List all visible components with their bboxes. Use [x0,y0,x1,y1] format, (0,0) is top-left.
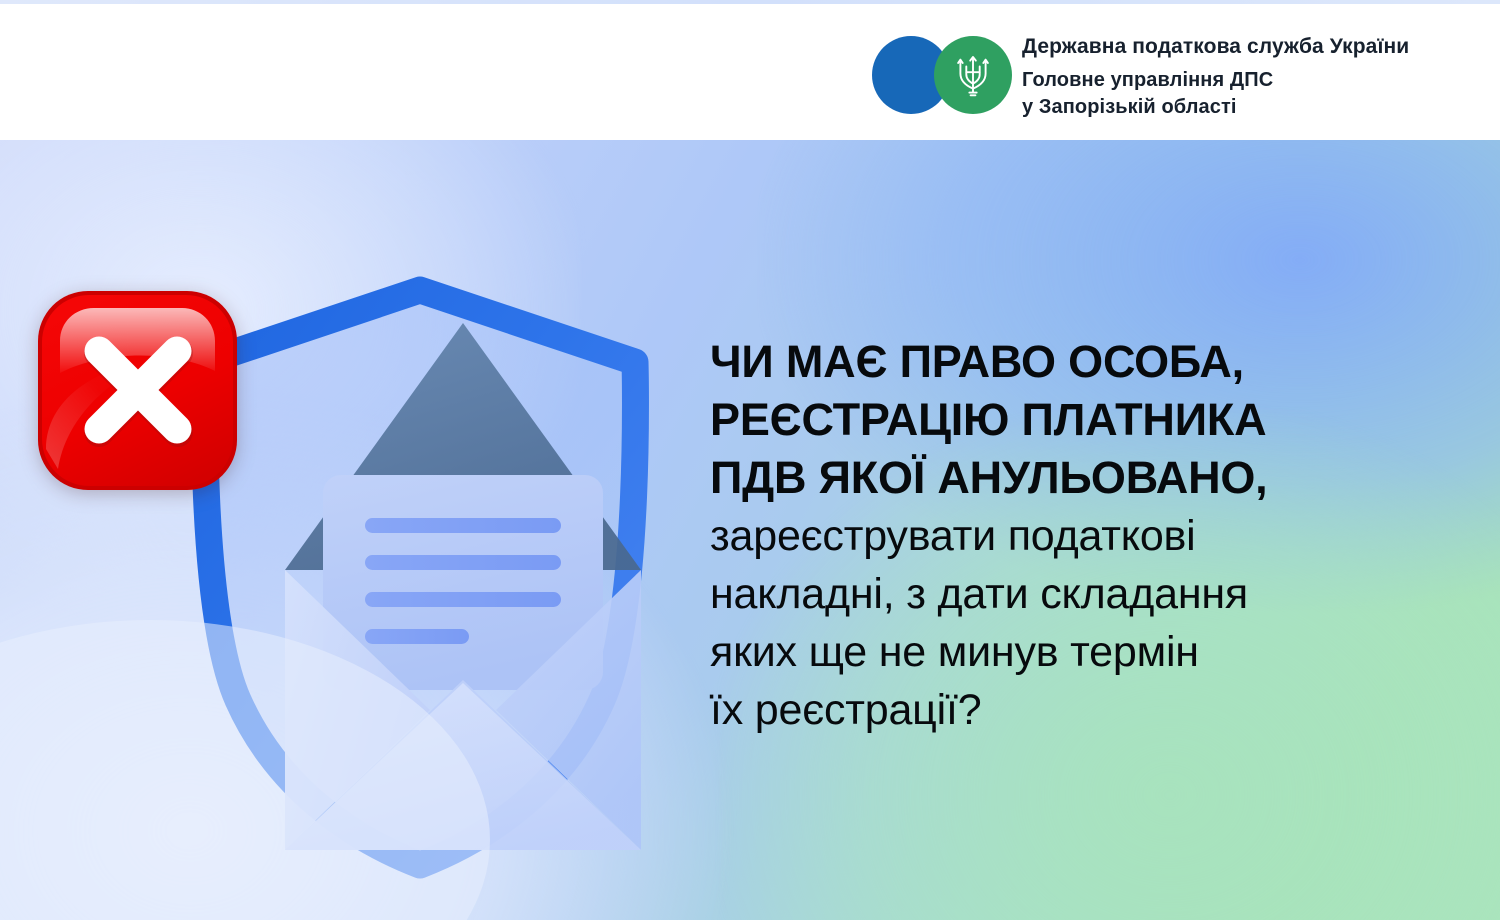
brand-block: Державна податкова служба України Головн… [872,29,1409,120]
red-x-badge-svg [36,289,239,492]
headline-line-2: РЕЄСТРАЦІЮ ПЛАТНИКА [710,391,1430,449]
body-line-3: яких ще не минув термін [710,623,1430,681]
letter-line-4 [365,629,469,644]
main-banner: ЧИ МАЄ ПРАВО ОСОБА, РЕЄСТРАЦІЮ ПЛАТНИКА … [0,140,1500,920]
agency-name-block: Державна податкова служба України Головн… [1022,29,1409,120]
body-line-4: їх реєстрації? [710,681,1430,739]
green-circle-icon [934,36,1012,114]
banner-headline: ЧИ МАЄ ПРАВО ОСОБА, РЕЄСТРАЦІЮ ПЛАТНИКА … [710,333,1430,507]
body-line-1: зареєструвати податкові [710,507,1430,565]
agency-name-primary: Державна податкова служба України [1022,33,1409,60]
red-x-denied-icon [36,289,239,492]
banner-page: Державна податкова служба України Головн… [0,0,1500,920]
illustration-svg [0,140,760,920]
letter-line-1 [365,518,561,533]
agency-logo [872,29,1022,119]
ukraine-trident-icon [956,53,990,97]
body-line-2: накладні, з дати складання [710,565,1430,623]
shield-envelope-illustration [0,140,760,920]
agency-name-secondary-line-1: Головне управління ДПС [1022,67,1409,93]
banner-body-text: зареєструвати податкові накладні, з дати… [710,507,1430,739]
site-header: Державна податкова служба України Головн… [0,4,1500,140]
banner-text-block: ЧИ МАЄ ПРАВО ОСОБА, РЕЄСТРАЦІЮ ПЛАТНИКА … [710,333,1430,739]
headline-line-1: ЧИ МАЄ ПРАВО ОСОБА, [710,333,1430,391]
headline-line-3: ПДВ ЯКОЇ АНУЛЬОВАНО, [710,449,1430,507]
letter-line-2 [365,555,561,570]
letter-line-3 [365,592,561,607]
agency-name-secondary-line-2: у Запорізькій області [1022,94,1409,120]
